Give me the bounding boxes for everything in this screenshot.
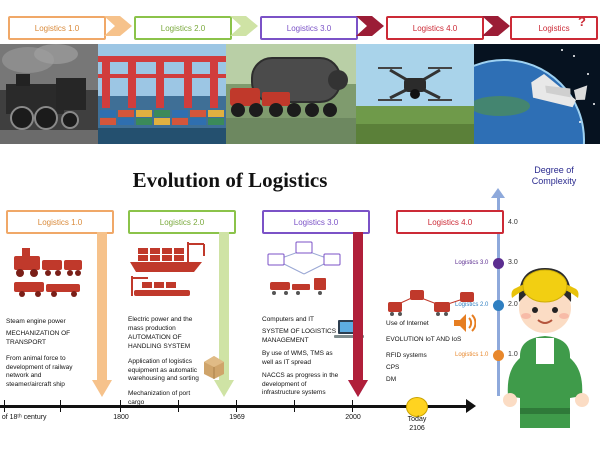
today-label-line1: Today	[394, 415, 440, 424]
container-ship-icon	[126, 238, 212, 302]
chevron-arrow-icon-3	[356, 12, 384, 40]
top-banner-item-3[interactable]: Logistics 3.0	[260, 16, 358, 40]
column-logistics-3: Logistics 3.0	[262, 210, 370, 234]
column-1-body-2: From animal force to development of rail…	[6, 355, 84, 389]
chevron-arrow-icon-1	[104, 12, 132, 40]
column-3-body-3: NACCS as progress in the development of …	[262, 372, 340, 398]
photo-strip	[0, 44, 600, 144]
timeline-tick-minor-1	[60, 400, 61, 412]
timeline-label-1: End of 18ᵗʰ century	[0, 414, 52, 421]
top-banner: Logistics 1.0 Logistics 2.0 Logistics 3.…	[0, 4, 600, 40]
column-4-body-1: EVOLUTION IoT AND IoS	[386, 336, 464, 345]
column-logistics-4: Logistics 4.0	[396, 210, 504, 234]
network-diagram-icon	[262, 238, 348, 300]
column-4-label[interactable]: Logistics 4.0	[396, 210, 504, 234]
column-4-body-3: CPS	[386, 364, 464, 373]
top-banner-item-1[interactable]: Logistics 1.0	[8, 16, 106, 40]
timeline-label-2: 1800	[98, 414, 144, 421]
warehouse-box-icon	[200, 352, 228, 380]
column-4-down-arrow-icon	[348, 232, 368, 397]
timeline-tick-minor-3	[294, 400, 295, 412]
column-2-body-1: AUTOMATION OF HANDLING SYSTEM	[128, 334, 206, 351]
chevron-arrow-icon-2	[230, 12, 258, 40]
heavy-haul-truck-photo	[226, 44, 356, 144]
column-2-body-2: Application of logistics equipment as au…	[128, 358, 206, 384]
column-3-body-1: SYSTEM OF LOGISTICS MANAGEMENT	[262, 328, 340, 345]
column-2-label[interactable]: Logistics 2.0	[128, 210, 236, 234]
timeline-axis	[0, 405, 470, 408]
column-1-body-1: MECHANIZATION OF TRANSPORT	[6, 330, 84, 347]
chevron-arrow-icon-4	[482, 12, 510, 40]
complexity-axis-label-line2: Complexity	[514, 176, 594, 187]
column-4-body-0: Use of Internet	[386, 320, 464, 329]
today-marker	[406, 397, 428, 417]
question-mark-icon: ?	[578, 14, 586, 29]
column-2-body-0: Electric power and the mass production	[128, 316, 206, 333]
column-1-down-arrow-icon	[92, 232, 112, 397]
timeline-tick-1	[4, 400, 5, 412]
drone-photo	[356, 44, 474, 144]
column-3-body-0: Computers and IT	[262, 316, 340, 325]
steam-train-icon	[8, 238, 88, 298]
complexity-side-label-3: Logistics 3.0	[455, 260, 488, 266]
column-1-label[interactable]: Logistics 1.0	[6, 210, 114, 234]
page-title: Evolution of Logistics	[0, 168, 460, 193]
column-3-label[interactable]: Logistics 3.0	[262, 210, 370, 234]
timeline-label-3: 1969	[214, 414, 260, 421]
today-label: Today 2106	[394, 415, 440, 433]
timeline-label-4: 2000	[330, 414, 376, 421]
steam-locomotive-photo	[0, 44, 98, 144]
timeline-arrowhead	[466, 399, 476, 413]
container-port-crane-photo	[98, 44, 226, 144]
column-logistics-1: Logistics 1.0	[6, 210, 114, 234]
today-label-line2: 2106	[394, 424, 440, 433]
engineer-character-illustration	[490, 258, 600, 428]
complexity-marker-label-4: 4.0	[508, 219, 518, 226]
complexity-axis-label-line1: Degree of	[514, 165, 594, 176]
column-1-body-0: Steam engine power	[6, 318, 84, 327]
column-3-body-2: By use of WMS, TMS as well as IT spread	[262, 350, 340, 367]
timeline-tick-4	[352, 400, 353, 412]
column-logistics-2: Logistics 2.0	[128, 210, 236, 234]
timeline-tick-2	[120, 400, 121, 412]
column-4-body-4: DM	[386, 376, 464, 385]
complexity-axis-label: Degree of Complexity	[514, 165, 594, 187]
top-banner-item-4[interactable]: Logistics 4.0	[386, 16, 484, 40]
timeline-tick-3	[236, 400, 237, 412]
top-banner-item-2[interactable]: Logistics 2.0	[134, 16, 232, 40]
column-4-body-2: RFID systems	[386, 352, 464, 361]
space-shuttle-photo	[474, 44, 600, 144]
timeline-tick-minor-2	[178, 400, 179, 412]
